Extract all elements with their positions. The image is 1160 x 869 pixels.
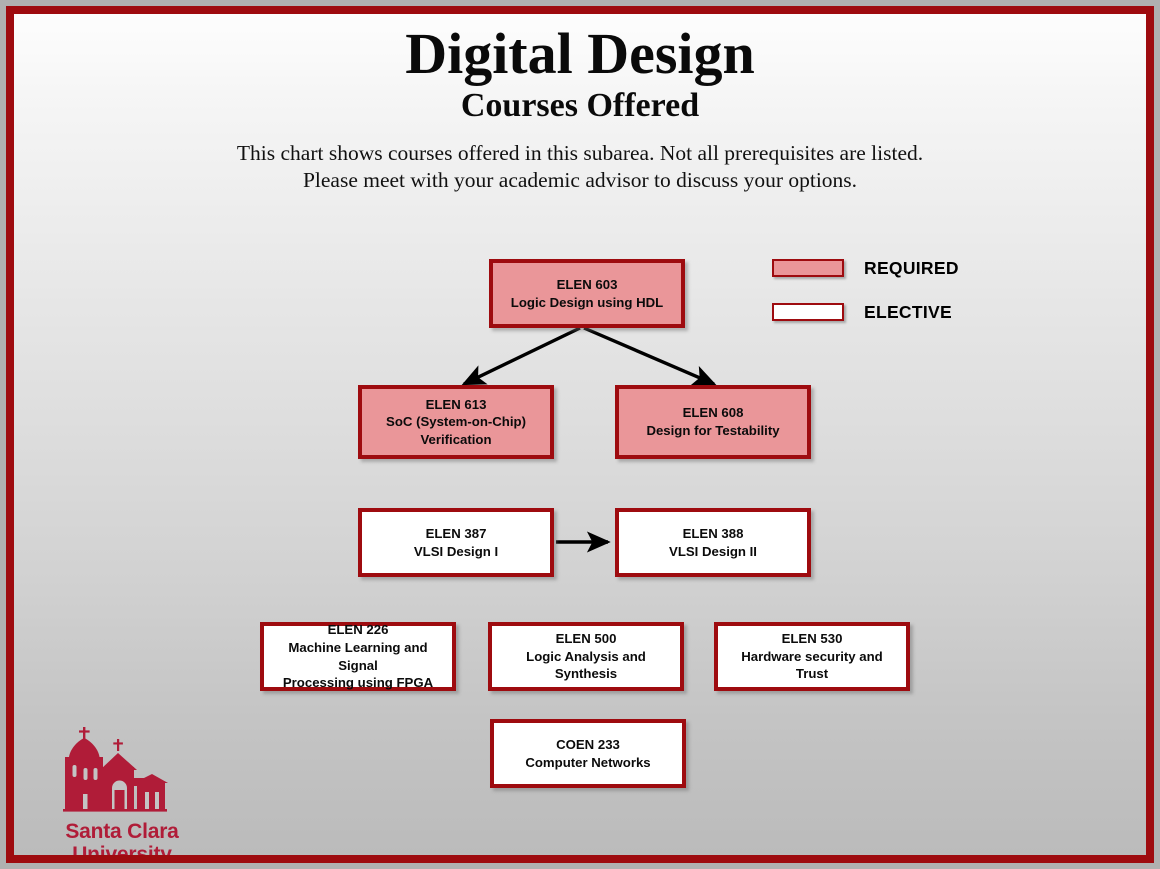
course-node-elen-388[interactable]: ELEN 388 VLSI Design II [615,508,811,577]
course-node-elen-387[interactable]: ELEN 387 VLSI Design I [358,508,554,577]
course-code: ELEN 226 [270,621,446,639]
mission-church-icon [42,726,182,818]
legend-swatch-elective [772,303,844,321]
legend-swatch-required [772,259,844,277]
course-node-elen-500[interactable]: ELEN 500 Logic Analysis and Synthesis [488,622,684,691]
course-code: ELEN 387 [414,525,498,543]
course-name: SoC (System-on-Chip) [386,413,526,431]
scu-wordmark-line-1: Santa Clara [42,820,202,843]
course-code: ELEN 603 [511,276,663,294]
page-subtitle: Courses Offered [14,88,1146,124]
poster-frame: Digital Design Courses Offered This char… [6,6,1154,863]
legend-label-elective: ELECTIVE [864,302,952,323]
poster: Digital Design Courses Offered This char… [0,0,1160,869]
course-name: Machine Learning and Signal [270,639,446,674]
legend-label-required: REQUIRED [864,258,959,279]
legend-row-required: REQUIRED [772,252,959,284]
legend-row-elective: ELECTIVE [772,296,959,328]
course-node-elen-613[interactable]: ELEN 613 SoC (System-on-Chip) Verificati… [358,385,554,459]
course-code: COEN 233 [525,736,650,754]
page-title: Digital Design [14,24,1146,83]
intro-line-2: Please meet with your academic advisor t… [14,167,1146,194]
course-node-elen-226[interactable]: ELEN 226 Machine Learning and Signal Pro… [260,622,456,691]
course-node-coen-233[interactable]: COEN 233 Computer Networks [490,719,686,788]
course-name: Logic Design using HDL [511,294,663,312]
course-code: ELEN 500 [498,630,674,648]
course-code: ELEN 530 [724,630,900,648]
edge-603-to-608 [584,328,714,384]
course-name: VLSI Design II [669,543,757,561]
chart-canvas: Digital Design Courses Offered This char… [14,14,1146,855]
course-code: ELEN 613 [386,396,526,414]
course-name-cont: Processing using FPGA [270,674,446,692]
course-code: ELEN 608 [646,404,779,422]
course-node-elen-608[interactable]: ELEN 608 Design for Testability [615,385,811,459]
course-code: ELEN 388 [669,525,757,543]
course-name-cont: Verification [386,431,526,449]
scu-wordmark: Santa Clara University [42,820,202,855]
scu-logo: Santa Clara University [42,726,202,855]
edge-603-to-613 [464,328,580,384]
legend: REQUIRED ELECTIVE [772,252,959,328]
course-node-elen-603[interactable]: ELEN 603 Logic Design using HDL [489,259,685,328]
course-name: VLSI Design I [414,543,498,561]
course-name: Design for Testability [646,422,779,440]
course-node-elen-530[interactable]: ELEN 530 Hardware security and Trust [714,622,910,691]
course-name: Logic Analysis and Synthesis [498,648,674,683]
scu-wordmark-line-2: University [42,843,202,855]
course-name: Computer Networks [525,754,650,772]
course-name: Hardware security and Trust [724,648,900,683]
intro-line-1: This chart shows courses offered in this… [14,140,1146,167]
intro-text: This chart shows courses offered in this… [14,140,1146,195]
